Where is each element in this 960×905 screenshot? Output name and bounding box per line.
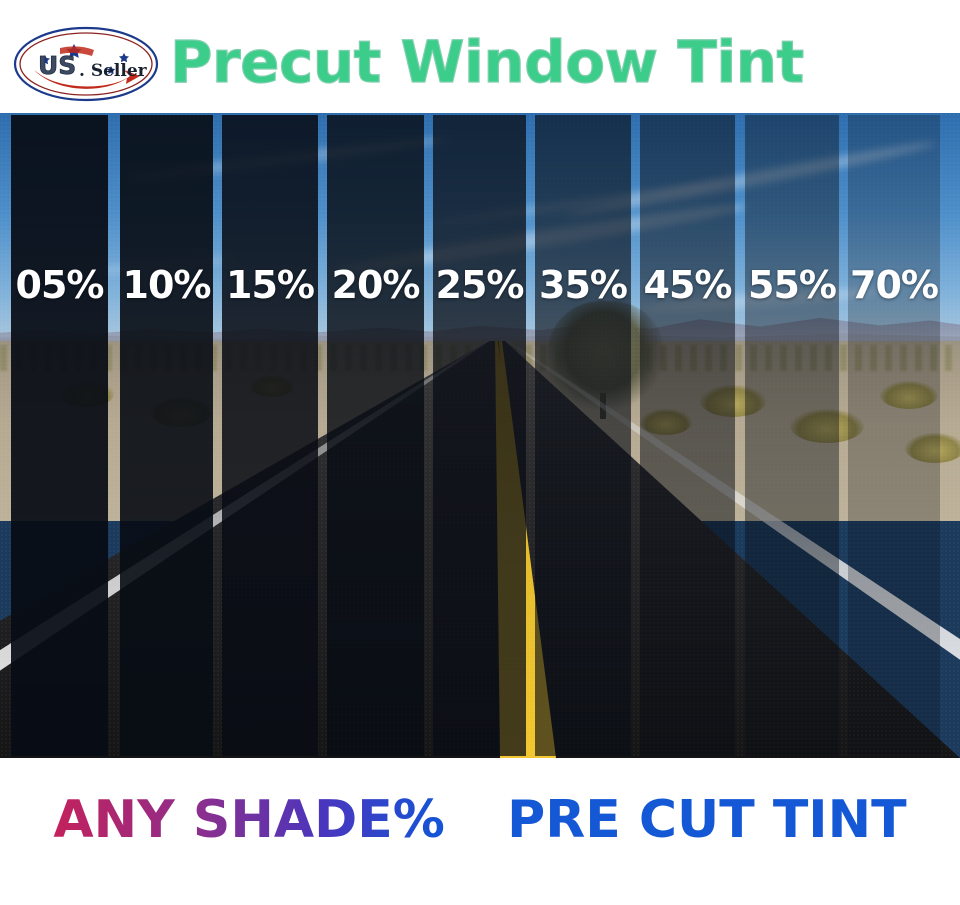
us-seller-logo: US . Seller [12,24,160,104]
tint-strip-label: 20% [327,263,424,307]
footer-pre-cut-tint-text: PRE CUT TINT [507,790,907,850]
tint-strip-label: 15% [222,263,318,307]
logo-seller-text: . Seller [79,61,148,81]
us-seller-logo-icon: US . Seller [12,24,160,104]
tint-strip-label: 10% [120,263,213,307]
tint-shade-chart-page: US . Seller Precut Window Tint [0,0,960,905]
logo-us-text: US [38,51,76,80]
tint-strip-45[interactable]: 45% [640,115,735,756]
footer-tagline: ANY SHADE% PRE CUT TINT [0,790,960,850]
tint-strip-label: 45% [640,263,735,307]
tint-strip-10[interactable]: 10% [120,115,213,756]
tint-strip-5[interactable]: 05% [11,115,108,756]
tint-sample-photo: 05%10%15%20%25%35%45%55%70% [0,113,960,758]
tint-strip-25[interactable]: 25% [433,115,526,756]
footer-any-shade-text: ANY SHADE% [53,790,445,850]
tint-strip-55[interactable]: 55% [745,115,839,756]
tint-strip-label: 25% [433,263,526,307]
tint-strip-label: 05% [11,263,108,307]
tint-strip-15[interactable]: 15% [222,115,318,756]
footer-banner: ANY SHADE% PRE CUT TINT [0,758,960,905]
tint-strip-row: 05%10%15%20%25%35%45%55%70% [0,113,960,758]
page-title: Precut Window Tint [170,28,804,96]
tint-strip-20[interactable]: 20% [327,115,424,756]
tint-strip-35[interactable]: 35% [535,115,631,756]
header-banner: US . Seller Precut Window Tint [0,0,960,113]
tint-strip-label: 70% [848,263,940,307]
tint-strip-label: 55% [745,263,839,307]
tint-strip-label: 35% [535,263,631,307]
tint-strip-70[interactable]: 70% [848,115,940,756]
